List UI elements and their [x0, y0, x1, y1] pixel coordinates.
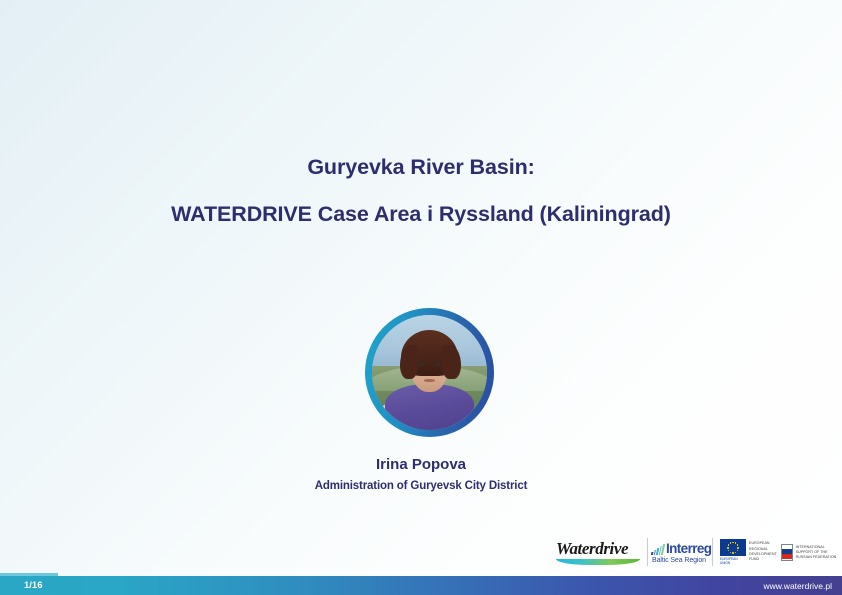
eu-star-icon: [730, 542, 732, 544]
page-title: Guryevka River Basin: WATERDRIVE Case Ar…: [0, 155, 842, 228]
eu-flag-icon: [720, 539, 746, 556]
presenter-name: Irina Popova: [0, 456, 842, 474]
waterdrive-logo: Waterdrive: [556, 540, 640, 565]
presenter-organization: Administration of Guryevsk City District: [0, 480, 842, 494]
avatar-photo: [372, 315, 487, 430]
photo-hair-right: [442, 345, 460, 380]
eu-star-icon: [727, 547, 729, 549]
eu-star-icon: [728, 550, 730, 552]
interreg-logo: Interreg Baltic Sea Region: [647, 538, 713, 566]
russian-federation-logo: INTERNATIONAL SUPPORT OF THE RUSSIAN FED…: [781, 544, 837, 561]
eu-star-icon: [737, 544, 739, 546]
eu-star-icon: [728, 544, 730, 546]
photo-eye-right: [434, 362, 441, 365]
presenter-block: Irina Popova Administration of Guryevsk …: [0, 456, 842, 494]
photo-eye-left: [417, 362, 424, 365]
eu-fund-text: EUROPEAN REGIONAL DEVELOPMENT FUND: [749, 541, 777, 562]
photo-hair-left: [400, 345, 418, 380]
title-line-2: WATERDRIVE Case Area i Ryssland (Kalinin…: [0, 202, 842, 228]
eu-flag-caption: EUROPEAN UNION: [720, 558, 746, 564]
interreg-top-row: Interreg: [652, 540, 708, 555]
eu-star-icon: [732, 542, 734, 544]
waterdrive-wordmark: Waterdrive: [556, 540, 640, 557]
footer-url[interactable]: www.waterdrive.pl: [764, 581, 833, 591]
eu-star-icon: [737, 547, 739, 549]
eu-star-icon: [737, 550, 739, 552]
eu-star-icon: [735, 552, 737, 554]
european-union-logo: EUROPEAN UNION EUROPEAN REGIONAL DEVELOP…: [720, 539, 774, 564]
slide-page-indicator: 1/16: [24, 580, 43, 591]
title-line-1: Guryevka River Basin:: [0, 155, 842, 181]
interreg-subtitle: Baltic Sea Region: [652, 557, 708, 564]
interreg-wordmark: Interreg: [666, 542, 711, 556]
waterdrive-swoosh-icon: [556, 559, 640, 565]
presentation-slide: Guryevka River Basin: WATERDRIVE Case Ar…: [0, 0, 842, 595]
interreg-bars-icon: [651, 544, 665, 555]
logo-bar: Waterdrive Interreg Baltic Sea Region EU…: [556, 531, 838, 573]
slide-footer: 1/16 www.waterdrive.pl: [0, 576, 842, 595]
russia-support-text: INTERNATIONAL SUPPORT OF THE RUSSIAN FED…: [796, 545, 837, 561]
russia-flag-icon: [781, 544, 793, 561]
eu-star-icon: [732, 552, 734, 554]
eu-star-icon: [730, 552, 732, 554]
eu-flag-wrap: EUROPEAN UNION: [720, 539, 746, 564]
avatar: [365, 308, 494, 437]
